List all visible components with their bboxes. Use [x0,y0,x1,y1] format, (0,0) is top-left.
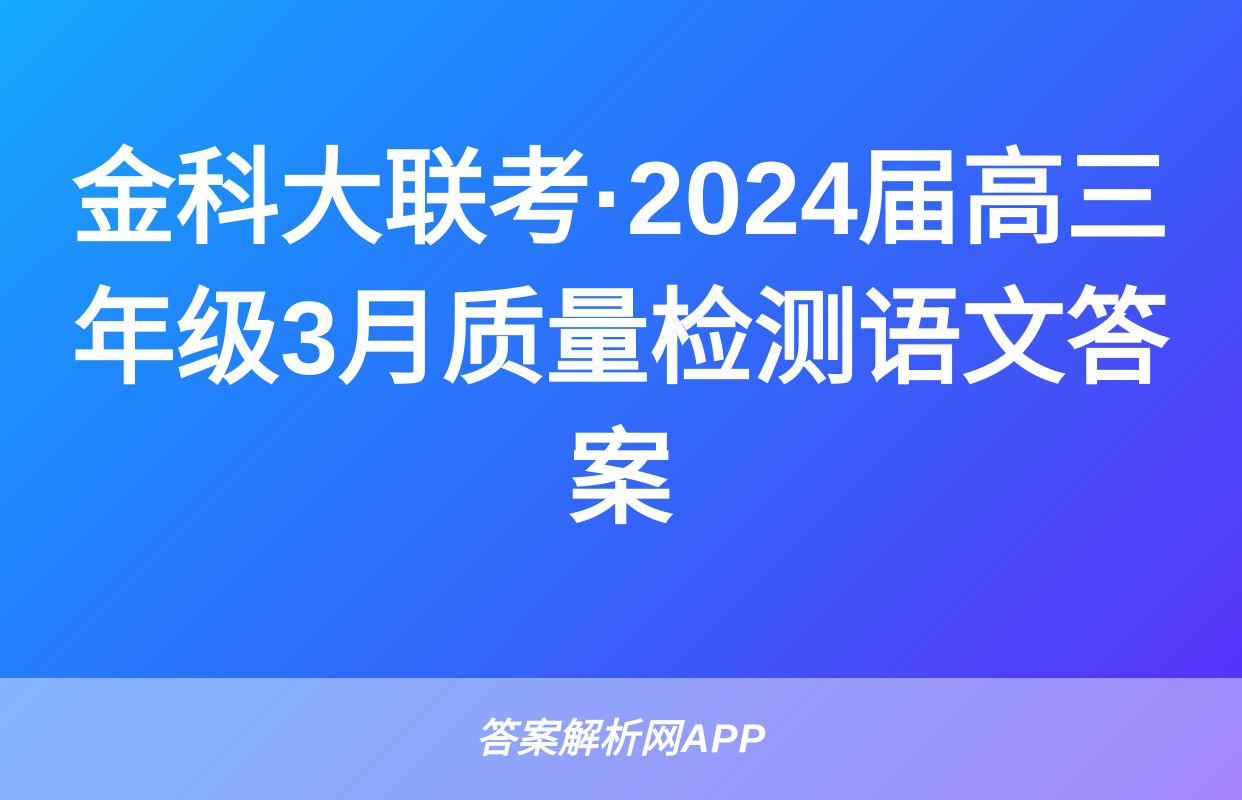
hero-section: 金科大联考·2024届高三年级3月质量检测语文答案 [0,0,1242,678]
app-watermark-label: 答案解析网APP [476,715,766,763]
page-title: 金科大联考·2024届高三年级3月质量检测语文答案 [72,129,1170,549]
footer-watermark-band: 答案解析网APP [0,678,1242,800]
answer-cover-card: 金科大联考·2024届高三年级3月质量检测语文答案 答案解析网APP [0,0,1242,800]
